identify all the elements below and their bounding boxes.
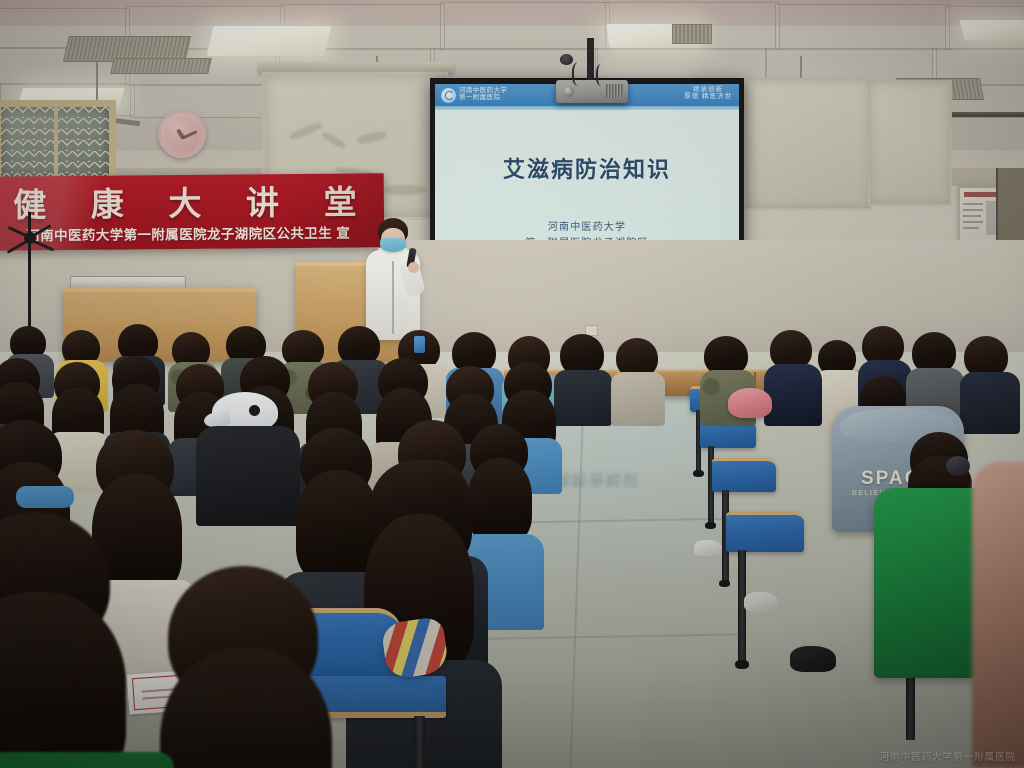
sneaker — [790, 646, 836, 672]
banner-char-4: 讲 — [246, 176, 281, 224]
speaker-hand — [408, 262, 419, 273]
banner-subtitle: 河南中医药大学第一附属医院龙子湖院区公共卫生 宣 — [0, 221, 384, 244]
ceiling-vent — [110, 58, 212, 74]
projector-cable — [596, 64, 608, 86]
mic-stand-hub — [24, 232, 36, 244]
banner-char-5: 堂 — [323, 176, 358, 224]
smartphone — [414, 336, 425, 353]
sneaker — [694, 540, 722, 556]
sneaker — [744, 592, 778, 612]
slide-title: 艾滋病防治知识 — [435, 152, 739, 184]
speaker-presenter — [358, 218, 428, 340]
slide-header-underline — [435, 106, 739, 110]
projector-cable — [572, 62, 588, 86]
hair-tie — [946, 456, 970, 476]
motto-line-2: 厚德 精医济世 — [684, 93, 732, 100]
whiteboard-panel — [744, 78, 872, 210]
pink-backpack — [728, 388, 772, 418]
coat-placket — [392, 256, 394, 334]
banner-char-2: 康 — [91, 178, 126, 226]
speaker-face-mask — [380, 238, 406, 252]
ceiling-light — [207, 26, 332, 56]
projector-lens-icon — [563, 86, 574, 97]
photo-watermark: 河南中医药大学第一附属医院 — [879, 749, 1016, 763]
red-event-banner: 健 康 大 讲 堂 河南中医药大学第一附属医院龙子湖院区公共卫生 宣 — [0, 173, 384, 250]
banner-main-text: 健 康 大 讲 堂 — [0, 175, 380, 226]
projector-vent — [606, 84, 623, 98]
hospital-logo: 河南中医药大学 第一附属医院 — [435, 88, 507, 103]
lecture-hall-photo: 河南中医药大学 第一附属医院 继承创新 厚德 精医济世 艾滋病防治知识 河南中医… — [0, 0, 1024, 768]
window-mullion — [54, 100, 58, 188]
whiteboard-panel — [868, 80, 952, 206]
clock-minute-hand — [182, 130, 198, 139]
ceiling-light — [960, 20, 1024, 40]
slide-motto: 继承创新 厚德 精医济世 — [684, 86, 732, 100]
slide-subtitle-line-1: 河南中医药大学 — [435, 220, 739, 236]
ceiling-vent — [672, 24, 712, 44]
logo-line-2: 第一附属医院 — [459, 95, 507, 102]
cap-button — [249, 405, 260, 416]
banner-char-3: 大 — [168, 177, 203, 225]
wall-clock — [158, 110, 206, 158]
headband — [16, 486, 74, 508]
logo-mark-icon — [441, 88, 456, 103]
dome-camera-icon — [560, 54, 573, 65]
ceiling-projector — [556, 80, 628, 103]
